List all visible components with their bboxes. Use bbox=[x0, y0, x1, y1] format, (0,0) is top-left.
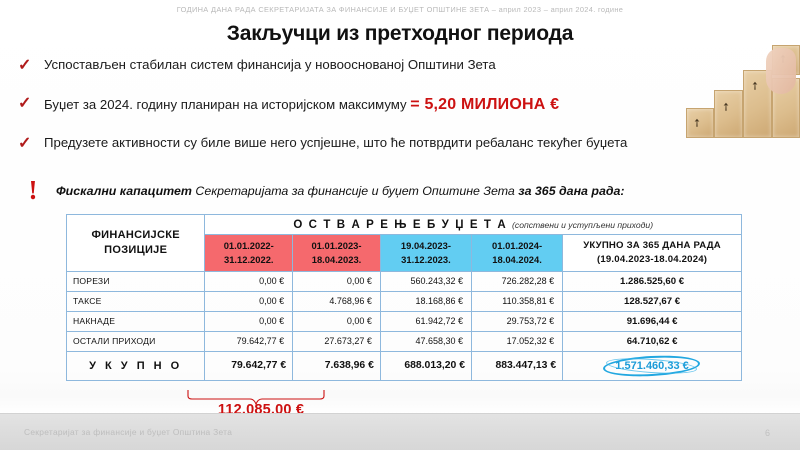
list-item: ✓ Предузете активности су биле више него… bbox=[18, 135, 780, 153]
cell-taxes-p3: 560.243,32 € bbox=[380, 271, 471, 291]
cell-grandtotal-p3: 688.013,20 € bbox=[380, 351, 471, 380]
row-label-other-income: ОСТАЛИ ПРИХОДИ bbox=[67, 331, 205, 351]
header-period-3: 19.04.2023- 31.12.2023. bbox=[380, 235, 471, 272]
table-row: ОСТАЛИ ПРИХОДИ 79.642,77 € 27.673,27 € 4… bbox=[67, 331, 742, 351]
cell-fees-p4: 110.358,81 € bbox=[472, 291, 563, 311]
cell-other-p4: 17.052,32 € bbox=[472, 331, 563, 351]
header-period-3-line2: 31.12.2023. bbox=[383, 253, 469, 267]
list-item-text: Буџет за 2024. годину планиран на истори… bbox=[44, 95, 559, 115]
footer-text: Секретаријат за финансије и буџет Општин… bbox=[24, 427, 232, 437]
header-period-2-line2: 18.04.2023. bbox=[295, 253, 378, 267]
header-period-3-line1: 19.04.2023- bbox=[383, 239, 469, 253]
cell-fees-p3: 18.168,86 € bbox=[380, 291, 471, 311]
header-total-line2: (19.04.2023-18.04.2024) bbox=[565, 253, 739, 267]
table-total-row: У К У П Н О 79.642,77 € 7.638,96 € 688.0… bbox=[67, 351, 742, 380]
bullet-text-2: Буџет за 2024. годину планиран на истори… bbox=[44, 97, 410, 112]
header-budget-realization-label: О С Т В А Р Е Њ Е Б У Џ Е Т А bbox=[293, 219, 507, 231]
header-period-2: 01.01.2023- 18.04.2023. bbox=[293, 235, 381, 272]
cell-fees-p1: 0,00 € bbox=[205, 291, 293, 311]
list-item: ✓ Буџет за 2024. годину планиран на исто… bbox=[18, 95, 780, 115]
cell-other-p1: 79.642,77 € bbox=[205, 331, 293, 351]
table-header-row-1: ФИНАНСИЈСКЕ ПОЗИЦИЈЕ О С Т В А Р Е Њ Е Б… bbox=[67, 215, 742, 235]
highlight-circle-annotation: 1.571.460,33 € bbox=[603, 357, 700, 375]
page-number: 6 bbox=[765, 428, 770, 438]
header-budget-realization-note: (сопствени и уступљени приходи) bbox=[512, 220, 653, 230]
cell-taxes-total: 1.286.525,60 € bbox=[563, 271, 742, 291]
list-item-text: Предузете активности су биле више него у… bbox=[44, 135, 627, 152]
fiscal-lead: Фискални капацитет bbox=[56, 184, 192, 198]
cell-taxes-p1: 0,00 € bbox=[205, 271, 293, 291]
cell-fees-total: 128.527,67 € bbox=[563, 291, 742, 311]
header-period-1: 01.01.2022- 31.12.2022. bbox=[205, 235, 293, 272]
table-row: ПОРЕЗИ 0,00 € 0,00 € 560.243,32 € 726.28… bbox=[67, 271, 742, 291]
header-budget-realization: О С Т В А Р Е Њ Е Б У Џ Е Т А (сопствени… bbox=[205, 215, 742, 235]
cell-other-p3: 47.658,30 € bbox=[380, 331, 471, 351]
check-icon: ✓ bbox=[18, 95, 44, 113]
header-period-4-line1: 01.01.2024- bbox=[474, 239, 560, 253]
cell-grandtotal-p1: 79.642,77 € bbox=[205, 351, 293, 380]
fiscal-capacity-text: Фискални капацитет Секретаријата за фина… bbox=[56, 184, 625, 198]
header-period-1-line1: 01.01.2022- bbox=[207, 239, 290, 253]
cell-grandtotal-365: 1.571.460,33 € bbox=[563, 351, 742, 380]
list-item-text: Успостављен стабилан систем финансија у … bbox=[44, 57, 496, 74]
header-period-2-line1: 01.01.2023- bbox=[295, 239, 378, 253]
check-icon: ✓ bbox=[18, 135, 44, 153]
cell-grandtotal-p2: 7.638,96 € bbox=[293, 351, 381, 380]
cell-charges-p3: 61.942,72 € bbox=[380, 311, 471, 331]
cell-grandtotal-p4: 883.447,13 € bbox=[472, 351, 563, 380]
slide-canvas: ГОДИНА ДАНА РАДА СЕКРЕТАРИЈАТА ЗА ФИНАНС… bbox=[0, 0, 800, 450]
header-total-365-days: УКУПНО ЗА 365 ДАНА РАДА (19.04.2023-18.0… bbox=[563, 235, 742, 272]
bullet-text-1: Успостављен стабилан систем финансија у … bbox=[44, 57, 496, 72]
header-period-1-line2: 31.12.2022. bbox=[207, 253, 290, 267]
row-label-charges: НАКНАДЕ bbox=[67, 311, 205, 331]
cell-other-p2: 27.673,27 € bbox=[293, 331, 381, 351]
cell-charges-total: 91.696,44 € bbox=[563, 311, 742, 331]
cell-charges-p1: 0,00 € bbox=[205, 311, 293, 331]
cell-charges-p2: 0,00 € bbox=[293, 311, 381, 331]
cell-taxes-p2: 0,00 € bbox=[293, 271, 381, 291]
header-total-line1: УКУПНО ЗА 365 ДАНА РАДА bbox=[565, 239, 739, 253]
conclusions-list: ✓ Успостављен стабилан систем финансија … bbox=[18, 57, 780, 172]
check-icon: ✓ bbox=[18, 57, 44, 75]
cell-taxes-p4: 726.282,28 € bbox=[472, 271, 563, 291]
row-label-fees: ТАКСЕ bbox=[67, 291, 205, 311]
header-period-4: 01.01.2024- 18.04.2024. bbox=[472, 235, 563, 272]
slide-kicker: ГОДИНА ДАНА РАДА СЕКРЕТАРИЈАТА ЗА ФИНАНС… bbox=[0, 5, 800, 14]
row-label-taxes: ПОРЕЗИ bbox=[67, 271, 205, 291]
row-label-grand-total: У К У П Н О bbox=[67, 351, 205, 380]
table-row: ТАКСЕ 0,00 € 4.768,96 € 18.168,86 € 110.… bbox=[67, 291, 742, 311]
fiscal-capacity-caption: ! Фискални капацитет Секретаријата за фи… bbox=[22, 180, 625, 202]
header-financial-positions-label: ФИНАНСИЈСКЕ ПОЗИЦИЈЕ bbox=[91, 229, 179, 256]
bullet-highlight-amount: = 5,20 МИЛИОНА € bbox=[410, 96, 559, 113]
budget-table-wrapper: ФИНАНСИЈСКЕ ПОЗИЦИЈЕ О С Т В А Р Е Њ Е Б… bbox=[66, 214, 742, 381]
cell-charges-p4: 29.753,72 € bbox=[472, 311, 563, 331]
fiscal-tail: за 365 дана рада: bbox=[518, 184, 624, 198]
exclamation-icon: ! bbox=[22, 180, 44, 202]
bullet-text-3: Предузете активности су биле више него у… bbox=[44, 135, 627, 150]
header-period-4-line2: 18.04.2024. bbox=[474, 253, 560, 267]
header-financial-positions: ФИНАНСИЈСКЕ ПОЗИЦИЈЕ bbox=[67, 215, 205, 272]
list-item: ✓ Успостављен стабилан систем финансија … bbox=[18, 57, 780, 75]
cell-fees-p2: 4.768,96 € bbox=[293, 291, 381, 311]
cell-other-total: 64.710,62 € bbox=[563, 331, 742, 351]
table-row: НАКНАДЕ 0,00 € 0,00 € 61.942,72 € 29.753… bbox=[67, 311, 742, 331]
grand-total-value: 1.571.460,33 € bbox=[615, 360, 688, 372]
fiscal-middle: Секретаријата за финансије и буџет Општи… bbox=[192, 184, 518, 198]
budget-table: ФИНАНСИЈСКЕ ПОЗИЦИЈЕ О С Т В А Р Е Њ Е Б… bbox=[66, 214, 742, 381]
